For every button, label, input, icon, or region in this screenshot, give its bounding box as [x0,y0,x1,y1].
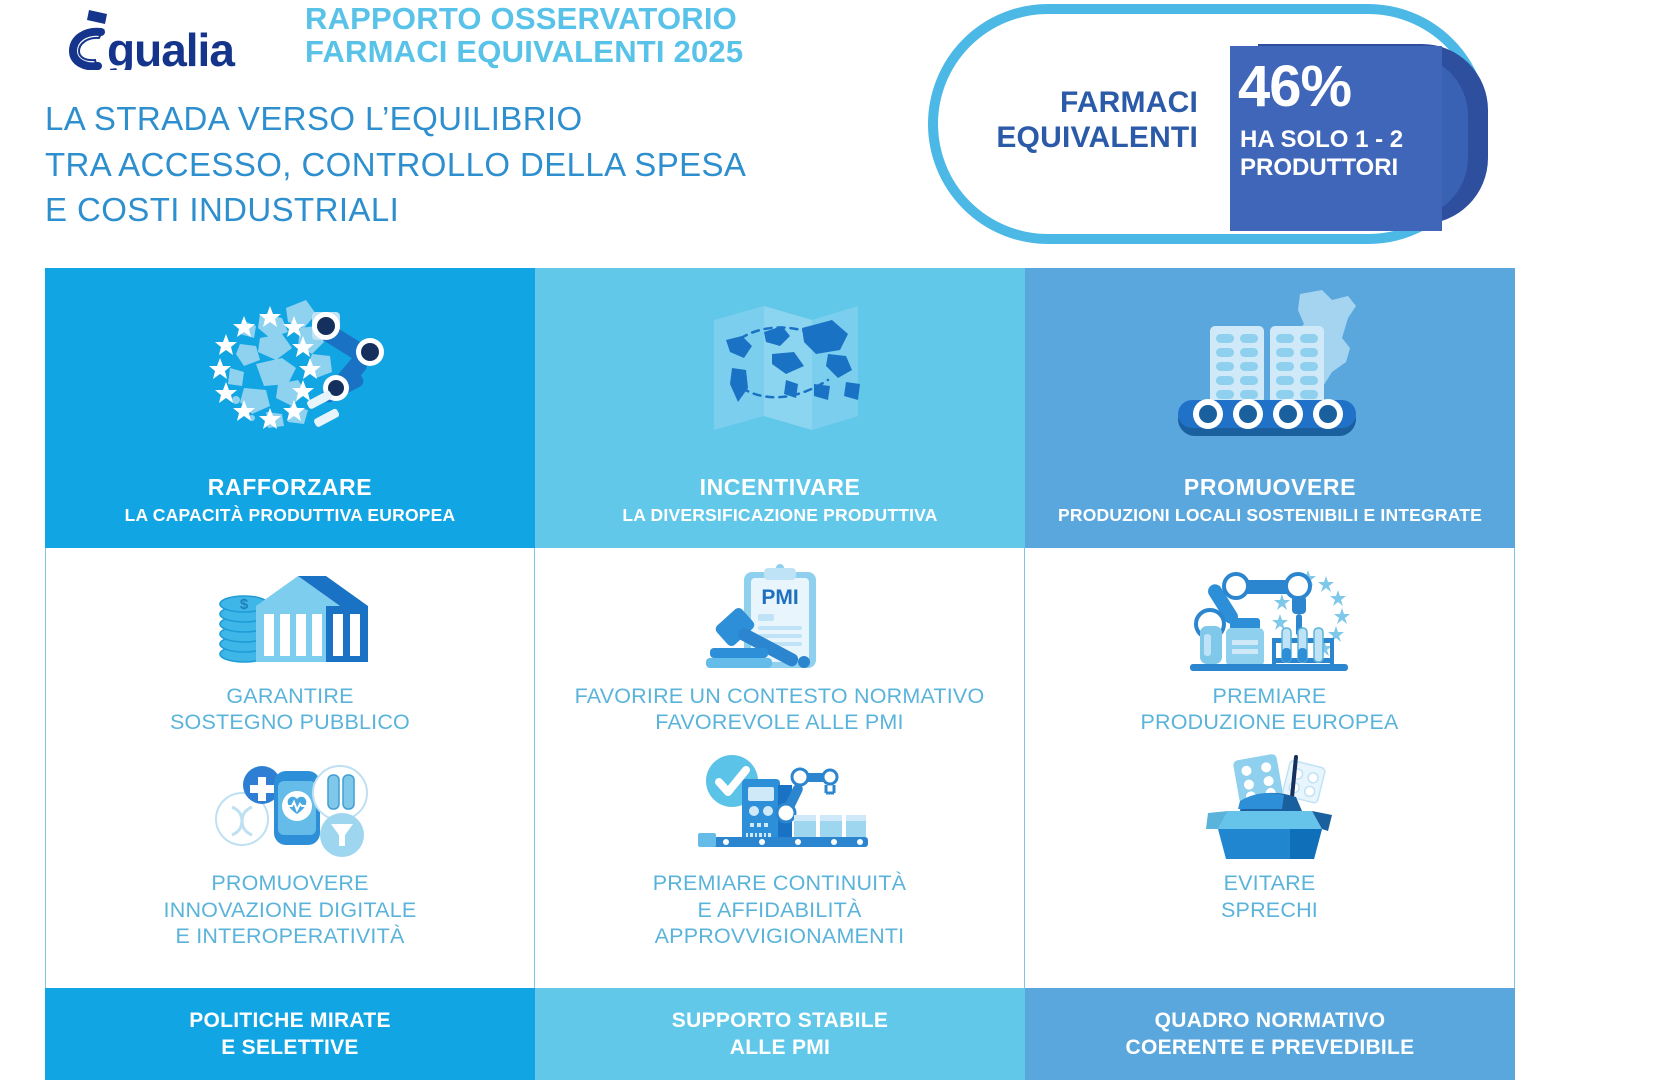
badge-label: FARMACI EQUIVALENTI [968,86,1198,156]
badge-label-line1: FARMACI [968,86,1198,121]
footer-line: E SELETTIVE [189,1034,391,1061]
pillar-item-garantire: $ GARANTIRE [46,562,534,735]
label-line: FAVORIRE UN CONTESTO NORMATIVO [575,683,985,709]
label-line: E INTEROPERATIVITÀ [164,923,417,949]
production-line-check-icon [690,749,870,864]
report-title-line1: RAPPORTO OSSERVATORIO [305,2,905,35]
robot-arm-lab-eu-stars-icon [1180,562,1360,677]
footer-line: COERENTE E PREVEDIBILE [1126,1034,1415,1061]
label-line: SPRECHI [1221,897,1318,923]
label-line: SOSTEGNO PUBBLICO [170,709,410,735]
badge-subtext-line1: HA SOLO 1 - 2 [1240,126,1460,154]
label-line: E AFFIDABILITÀ [653,897,906,923]
pillar-footer-text-3: QUADRO NORMATIVO COERENTE E PREVEDIBILE [1126,1007,1415,1062]
pillar-column-incentivare: INCENTIVARE LA DIVERSIFICAZIONE PRODUTTI… [535,268,1025,1080]
header: gualia RAPPORTO OSSERVATORIO FARMACI EQU… [0,0,1660,255]
infographic-page: gualia RAPPORTO OSSERVATORIO FARMACI EQU… [0,0,1660,1080]
label-line: FAVOREVOLE ALLE PMI [575,709,985,735]
europe-map-robot-arm-icon [170,284,410,444]
subtitle: LA STRADA VERSO L’EQUILIBRIO TRA ACCESSO… [45,96,925,233]
report-title: RAPPORTO OSSERVATORIO FARMACI EQUIVALENT… [305,2,905,69]
pillar-item-premiare-produzione: PREMIARE PRODUZIONE EUROPEA [1025,562,1514,735]
badge-label-line2: EQUIVALENTI [968,121,1198,156]
pillar-item-label-premiare-continuita: PREMIARE CONTINUITÀ E AFFIDABILITÀ APPRO… [653,870,906,949]
bank-coins-icon: $ [200,562,380,677]
pillar-body-1: $ GARANTIRE [45,548,535,988]
footer-line: ALLE PMI [672,1034,888,1061]
pillar-header-2: INCENTIVARE LA DIVERSIFICAZIONE PRODUTTI… [535,268,1025,548]
subtitle-line3: E COSTI INDUSTRIALI [45,187,925,233]
pillar-item-evitare-sprechi: EVITARE SPRECHI [1025,749,1514,922]
pillar-subtitle-1: LA CAPACITÀ PRODUTTIVA EUROPEA [125,505,456,526]
pillar-title-1: RAFFORZARE [208,474,372,501]
pillar-item-premiare-continuita: PREMIARE CONTINUITÀ E AFFIDABILITÀ APPRO… [535,749,1024,949]
vial-shape [1226,618,1264,666]
pillar-footer-1: POLITICHE MIRATE E SELETTIVE [45,988,535,1080]
pillar-body-3: PREMIARE PRODUZIONE EUROPEA [1025,548,1515,988]
pillar-header-1: RAFFORZARE LA CAPACITÀ PRODUTTIVA EUROPE… [45,268,535,548]
badge-subtext: HA SOLO 1 - 2 PRODUTTORI [1240,126,1460,183]
footer-line: POLITICHE MIRATE [189,1007,391,1034]
pillar-item-label-favorire-contesto: FAVORIRE UN CONTESTO NORMATIVO FAVOREVOL… [575,683,985,735]
pillar-subtitle-3: PRODUZIONI LOCALI SOSTENIBILI E INTEGRAT… [1058,505,1482,526]
pillar-subtitle-2: LA DIVERSIFICAZIONE PRODUTTIVA [622,505,937,526]
label-line: PREMIARE CONTINUITÀ [653,870,906,896]
label-line: PRODUZIONE EUROPEA [1140,709,1398,735]
label-line: EVITARE [1221,870,1318,896]
label-line: PROMUOVERE [164,870,417,896]
label-line: INNOVAZIONE DIGITALE [164,897,417,923]
svg-text:$: $ [240,596,249,613]
pillar-footer-text-1: POLITICHE MIRATE E SELETTIVE [189,1007,391,1062]
footer-line: QUADRO NORMATIVO [1126,1007,1415,1034]
egualia-logo: gualia [45,8,275,70]
pillar-title-3: PROMUOVERE [1184,474,1356,501]
badge-percent: 46% [1238,58,1458,116]
report-title-line2: FARMACI EQUIVALENTI 2025 [305,35,905,68]
clipboard-gavel-pmi-icon: PMI [690,562,870,677]
badge-subtext-line2: PRODUTTORI [1240,154,1460,182]
pillar-item-favorire-contesto: PMI [535,562,1024,735]
label-line: PREMIARE [1140,683,1398,709]
pillar-item-label-premiare-produzione: PREMIARE PRODUZIONE EUROPEA [1140,683,1398,735]
pillar-item-label-garantire: GARANTIRE SOSTEGNO PUBBLICO [170,683,410,735]
world-map-folded-icon [660,284,900,444]
pillars-grid: RAFFORZARE LA CAPACITÀ PRODUTTIVA EUROPE… [45,268,1515,1080]
pillar-footer-3: QUADRO NORMATIVO COERENTE E PREVEDIBILE [1025,988,1515,1080]
subtitle-line2: TRA ACCESSO, CONTROLLO DELLA SPESA [45,142,925,188]
pillar-title-2: INCENTIVARE [700,474,861,501]
pillar-column-promuovere: PROMUOVERE PRODUZIONI LOCALI SOSTENIBILI… [1025,268,1515,1080]
pillar-item-label-evitare-sprechi: EVITARE SPRECHI [1221,870,1318,922]
pillar-footer-text-2: SUPPORTO STABILE ALLE PMI [672,1007,888,1062]
subtitle-line1: LA STRADA VERSO L’EQUILIBRIO [45,96,925,142]
stat-badge: FARMACI EQUIVALENTI 46% HA SOLO 1 - 2 PR… [928,4,1488,244]
label-line: GARANTIRE [170,683,410,709]
digital-health-smartwatch-icon [200,749,380,864]
svg-text:PMI: PMI [761,586,798,609]
pillar-item-promuovere-innovazione: PROMUOVERE INNOVAZIONE DIGITALE E INTERO… [46,749,534,949]
pillar-body-2: PMI [535,548,1025,988]
pillar-header-3: PROMUOVERE PRODUZIONI LOCALI SOSTENIBILI… [1025,268,1515,548]
pillar-footer-2: SUPPORTO STABILE ALLE PMI [535,988,1025,1080]
italy-blister-conveyor-icon [1150,284,1390,444]
svg-text:gualia: gualia [107,24,235,70]
open-box-medicines-icon [1180,749,1360,864]
pillar-column-rafforzare: RAFFORZARE LA CAPACITÀ PRODUTTIVA EUROPE… [45,268,535,1080]
footer-line: SUPPORTO STABILE [672,1007,888,1034]
label-line: APPROVVIGIONAMENTI [653,923,906,949]
pillar-item-label-promuovere-innovazione: PROMUOVERE INNOVAZIONE DIGITALE E INTERO… [164,870,417,949]
